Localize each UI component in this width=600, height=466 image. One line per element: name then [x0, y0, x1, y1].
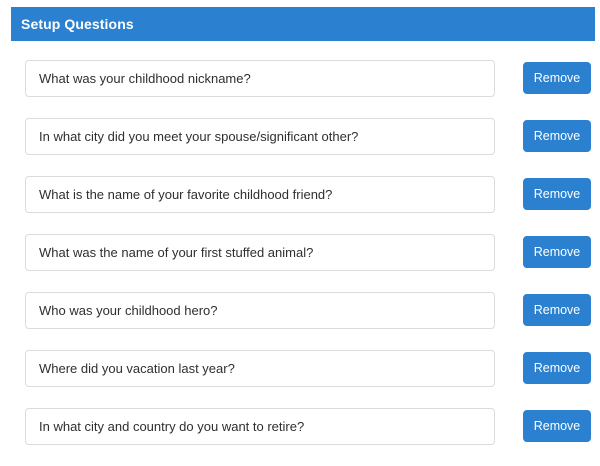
question-input[interactable]	[25, 408, 495, 445]
remove-question-button[interactable]: Remove	[523, 410, 591, 442]
remove-question-button[interactable]: Remove	[523, 62, 591, 94]
remove-question-button[interactable]: Remove	[523, 120, 591, 152]
question-row: Remove	[0, 118, 600, 176]
question-input[interactable]	[25, 60, 495, 97]
remove-question-button[interactable]: Remove	[523, 294, 591, 326]
question-input[interactable]	[25, 234, 495, 271]
remove-question-button[interactable]: Remove	[523, 178, 591, 210]
question-row: Remove	[0, 350, 600, 408]
question-list: Remove Remove Remove Remove Remove Remov…	[0, 60, 600, 466]
question-row: Remove	[0, 234, 600, 292]
remove-question-button[interactable]: Remove	[523, 236, 591, 268]
remove-question-button[interactable]: Remove	[523, 352, 591, 384]
question-row: Remove	[0, 176, 600, 234]
question-row: Remove	[0, 292, 600, 350]
question-row: Remove	[0, 60, 600, 118]
panel-header: Setup Questions	[11, 7, 595, 41]
question-input[interactable]	[25, 292, 495, 329]
setup-questions-panel: Setup Questions Remove Remove Remove Rem…	[0, 0, 600, 465]
question-input[interactable]	[25, 350, 495, 387]
question-row: Remove	[0, 408, 600, 466]
question-input[interactable]	[25, 176, 495, 213]
page-title: Setup Questions	[21, 7, 134, 41]
question-input[interactable]	[25, 118, 495, 155]
